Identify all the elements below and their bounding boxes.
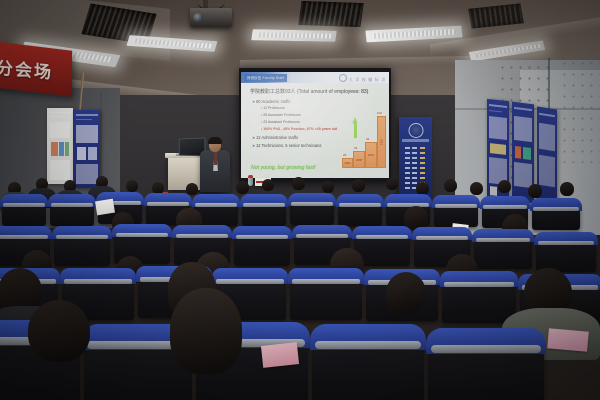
audience-head bbox=[528, 184, 542, 198]
speaker-tie bbox=[214, 152, 217, 165]
university-logo: 大 学 校 徽 标 识 bbox=[339, 74, 386, 83]
auditorium-seat bbox=[428, 330, 544, 400]
handout-paper bbox=[95, 199, 115, 216]
pink-handout bbox=[261, 342, 299, 368]
audience-head bbox=[352, 179, 365, 192]
ceiling-light-3 bbox=[251, 29, 337, 41]
slide-bullet-2: • 25 Associate Professors bbox=[261, 113, 301, 117]
projection-screen: 师资队伍 Faculty Staff 大 学 校 徽 标 识 学院教职工总数93… bbox=[241, 72, 389, 178]
chart-label-0: 29 bbox=[343, 153, 346, 157]
auditorium-seat bbox=[242, 196, 286, 226]
auditorium-seat bbox=[54, 228, 110, 266]
auditorium-seat bbox=[536, 234, 596, 272]
chart-bar-2: 2012 bbox=[365, 142, 377, 168]
slide-tagline: Not young, but growing fast! bbox=[251, 165, 316, 171]
auditorium-seat bbox=[532, 200, 580, 230]
auditorium-seat bbox=[290, 195, 334, 225]
acoustic-panel-perforation-b bbox=[560, 58, 600, 163]
pink-handout bbox=[547, 328, 589, 351]
auditorium-seat bbox=[442, 273, 516, 323]
audience-head bbox=[126, 180, 138, 192]
slide-bullet-3: • 23 Assistant Professors bbox=[261, 120, 300, 124]
audience-head bbox=[170, 288, 242, 374]
audience-head bbox=[186, 183, 198, 195]
audience-head bbox=[322, 181, 334, 193]
chart-bar-0: 2004 bbox=[342, 158, 353, 168]
university-emblem-icon bbox=[408, 123, 423, 138]
projector-lens bbox=[193, 13, 203, 22]
speaker-hair bbox=[208, 137, 222, 144]
chart-label-1: 33 bbox=[354, 146, 357, 150]
chart-bar-3: 2016 bbox=[377, 116, 386, 168]
audience-head bbox=[470, 182, 483, 195]
chart-label-3: 100 bbox=[377, 111, 382, 115]
slide-title: 学院教职工总数93人 (Total amount of employees: 8… bbox=[250, 88, 368, 95]
slide-bullet-4: • 100% PhD , 48% Postdoc, 67% <45 years … bbox=[261, 127, 337, 131]
audience-head bbox=[498, 180, 511, 193]
auditorium-seat bbox=[474, 231, 532, 269]
slide-header-bar: 师资队伍 Faculty Staff 大 学 校 徽 标 识 bbox=[241, 72, 389, 83]
auditorium-seat bbox=[312, 326, 424, 400]
water-bottle-2 bbox=[248, 175, 253, 186]
growth-chart: 2004 29 2008 33 2012 42 2016 100 bbox=[338, 106, 386, 168]
audience-head bbox=[292, 177, 305, 190]
chart-bar-1: 2008 bbox=[353, 151, 365, 168]
audience-head bbox=[560, 182, 574, 196]
slide-header-tab: 师资队伍 Faculty Staff bbox=[244, 74, 287, 82]
lecture-hall-photo: 分会场 bbox=[0, 0, 600, 400]
academic-poster-blue bbox=[74, 110, 100, 188]
venue-banner-text: 分会场 bbox=[0, 53, 53, 83]
auditorium-seat bbox=[50, 196, 94, 226]
auditorium-seat bbox=[2, 196, 46, 226]
audience-head bbox=[386, 178, 398, 190]
audience-head bbox=[236, 181, 249, 194]
projection-screen-frame: 师资队伍 Faculty Staff 大 学 校 徽 标 识 学院教职工总数93… bbox=[239, 68, 391, 182]
slide-bullet-5: ➤12 Administrative staffs bbox=[252, 135, 298, 140]
slide-bullet-0: ➤60 Academic staffs bbox=[252, 99, 290, 104]
venue-banner: 分会场 bbox=[0, 41, 72, 97]
auditorium-seat bbox=[290, 270, 362, 320]
auditorium-seat bbox=[338, 196, 382, 226]
slide-bullet-1: • 12 Professors bbox=[261, 106, 285, 110]
chart-label-2: 42 bbox=[366, 137, 369, 141]
ceiling-projector bbox=[190, 8, 232, 27]
air-vent-center bbox=[298, 1, 363, 27]
audience-head bbox=[262, 179, 274, 191]
audience-head bbox=[386, 272, 426, 314]
growth-arrow-icon bbox=[352, 117, 359, 138]
university-logo-text: 大 学 校 徽 标 识 bbox=[349, 77, 386, 82]
audience-head bbox=[444, 179, 457, 192]
auditorium-seat bbox=[234, 228, 290, 266]
slide-bullet-6: ➤12 Technicians, 5 senior technicians bbox=[252, 143, 321, 148]
audience-head bbox=[28, 300, 90, 362]
academic-poster-white bbox=[47, 108, 73, 184]
